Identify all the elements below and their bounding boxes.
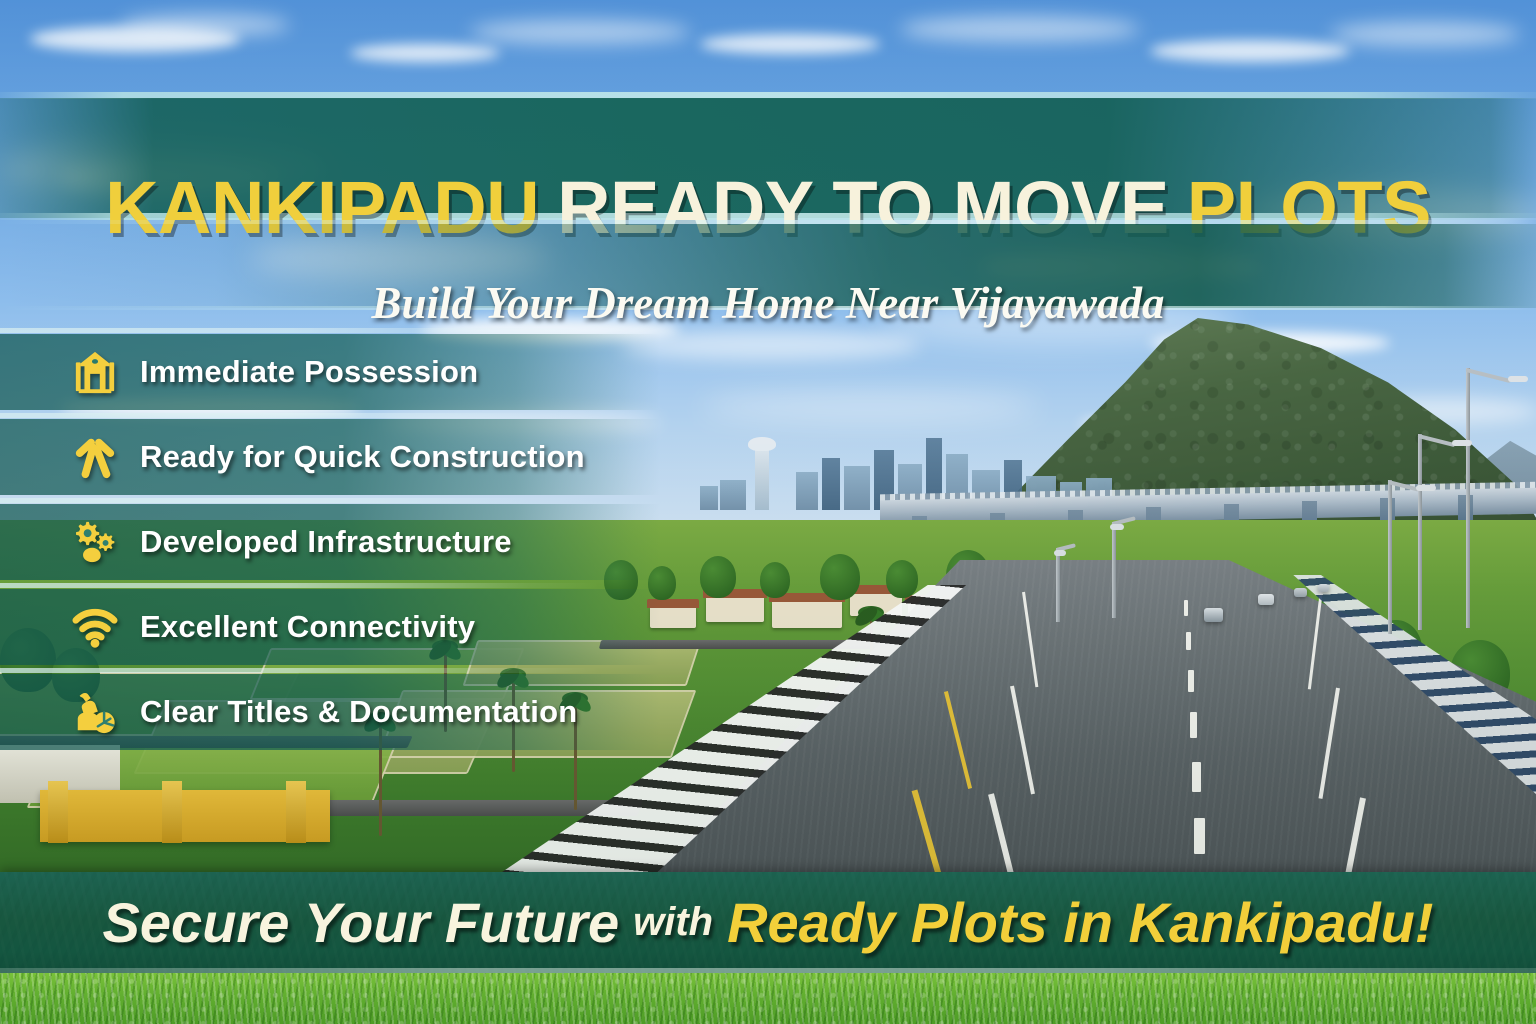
feature-divider <box>0 328 600 333</box>
grass-footer <box>0 973 1536 1024</box>
feature-label: Developed Infrastructure <box>140 524 512 560</box>
feature-row-quick-construction: Ready for Quick Construction <box>0 415 760 500</box>
feature-divider <box>0 498 600 503</box>
feature-row-developed-infrastructure: Developed Infrastructure <box>0 500 760 585</box>
feature-row-clear-titles: Clear Titles & Documentation <box>0 670 760 755</box>
promotional-poster: KANKIPADU READY TO MOVE PLOTS Build Your… <box>0 0 1536 1024</box>
feature-divider <box>0 668 600 673</box>
feature-list: Immediate Possession Ready for Quick Con… <box>0 330 760 755</box>
home-icon <box>72 349 118 395</box>
cta-highlight: Ready Plots in Kankipadu! <box>727 890 1433 955</box>
gears-icon <box>72 519 118 565</box>
feature-row-immediate-possession: Immediate Possession <box>0 330 760 415</box>
feature-divider <box>0 413 600 418</box>
feature-label: Immediate Possession <box>140 354 478 390</box>
feature-divider <box>0 583 600 588</box>
feature-label: Excellent Connectivity <box>140 609 475 645</box>
construction-icon <box>72 434 118 480</box>
cta-conjunction: with <box>619 900 727 945</box>
compound-wall-yellow <box>40 790 330 842</box>
wifi-icon <box>72 604 118 650</box>
feature-label: Clear Titles & Documentation <box>140 694 577 730</box>
cta-text: Secure Your Future with Ready Plots in K… <box>0 872 1536 972</box>
feature-row-excellent-connectivity: Excellent Connectivity <box>0 585 760 670</box>
document-stamp-icon <box>72 689 118 735</box>
cta-lead: Secure Your Future <box>103 890 620 955</box>
feature-label: Ready for Quick Construction <box>140 439 585 475</box>
